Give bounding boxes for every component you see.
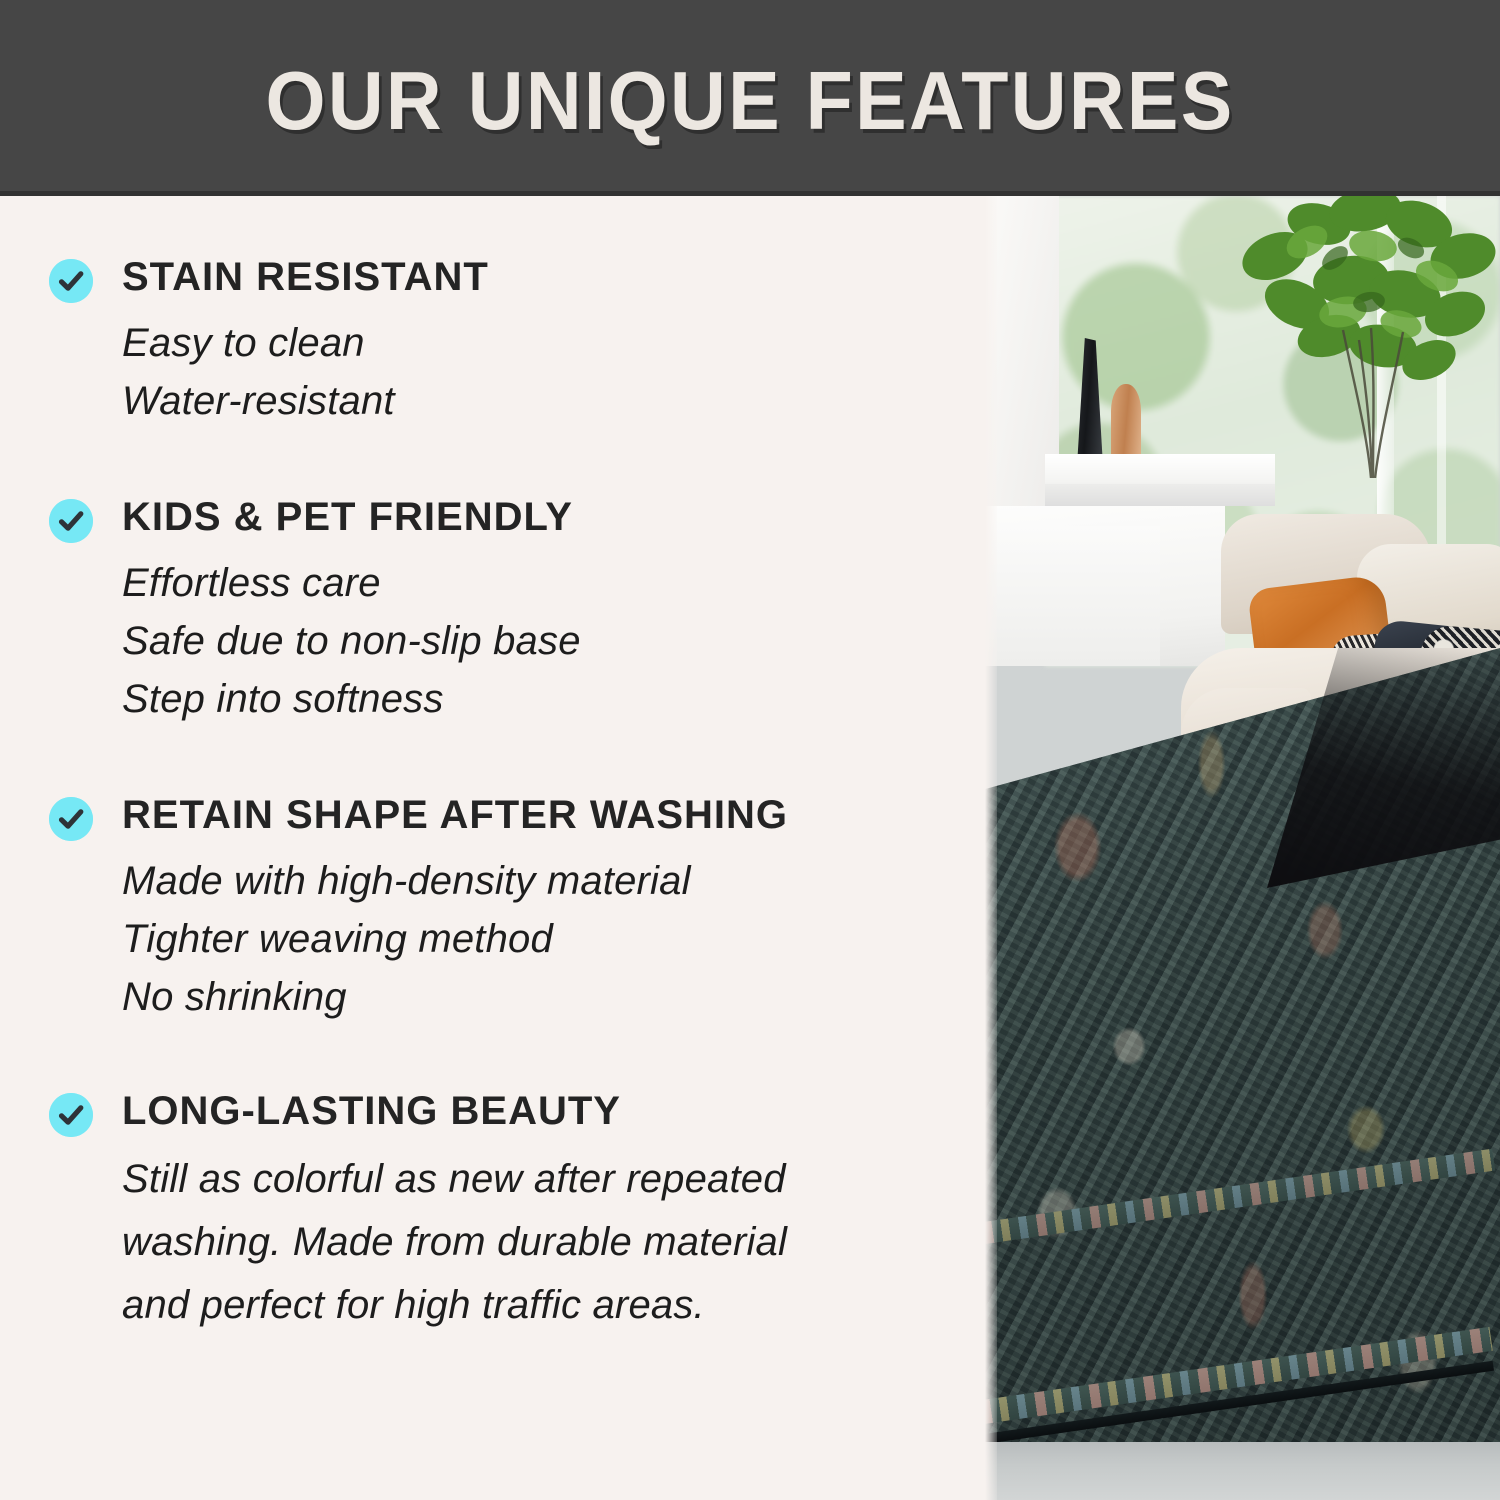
check-circle-icon	[49, 499, 93, 543]
sill-front-edge	[1045, 484, 1275, 506]
feature-title: KIDS & PET FRIENDLY	[122, 494, 955, 540]
page-title: OUR UNIQUE FEATURES	[265, 59, 1234, 142]
feature-detail-list: Effortless care Safe due to non-slip bas…	[122, 554, 955, 728]
plant-stems	[1337, 326, 1407, 478]
lifestyle-photo	[985, 196, 1500, 1500]
check-circle-icon	[49, 1093, 93, 1137]
feature-title: RETAIN SHAPE AFTER WASHING	[122, 792, 955, 838]
feature-item-retain-shape-after-washing: RETAIN SHAPE AFTER WASHING Made with hig…	[0, 792, 985, 1026]
feature-infographic: OUR UNIQUE FEATURES STAIN RESISTANT Easy…	[0, 0, 1500, 1500]
feature-title: LONG-LASTING BEAUTY	[122, 1088, 955, 1134]
feature-detail-line: and perfect for high traffic areas.	[122, 1274, 955, 1337]
feature-detail-line: Still as colorful as new after repeated	[122, 1148, 955, 1211]
gray-floor-strip	[985, 1442, 1500, 1500]
feature-detail-line: Effortless care	[122, 554, 955, 612]
header-bar: OUR UNIQUE FEATURES	[0, 0, 1500, 196]
feature-title: STAIN RESISTANT	[122, 254, 955, 300]
feature-item-stain-resistant: STAIN RESISTANT Easy to clean Water-resi…	[0, 254, 985, 430]
feature-detail-line: Water-resistant	[122, 372, 955, 430]
photo-left-edge-fade	[985, 196, 997, 1500]
feature-detail-line: No shrinking	[122, 968, 955, 1026]
feature-detail-list: Made with high-density material Tighter …	[122, 852, 955, 1026]
feature-item-kids-pet-friendly: KIDS & PET FRIENDLY Effortless care Safe…	[0, 494, 985, 728]
wall-console-lower	[985, 526, 1160, 666]
check-circle-icon	[49, 259, 93, 303]
feature-detail-list: Still as colorful as new after repeated …	[122, 1148, 955, 1337]
feature-detail-line: washing. Made from durable material	[122, 1211, 955, 1274]
feature-item-long-lasting-beauty: LONG-LASTING BEAUTY Still as colorful as…	[0, 1088, 985, 1337]
feature-detail-line: Easy to clean	[122, 314, 955, 372]
feature-detail-line: Safe due to non-slip base	[122, 612, 955, 670]
feature-detail-line: Step into softness	[122, 670, 955, 728]
feature-list: STAIN RESISTANT Easy to clean Water-resi…	[0, 196, 985, 1500]
feature-detail-line: Made with high-density material	[122, 852, 955, 910]
feature-detail-list: Easy to clean Water-resistant	[122, 314, 955, 430]
check-circle-icon	[49, 797, 93, 841]
feature-detail-line: Tighter weaving method	[122, 910, 955, 968]
